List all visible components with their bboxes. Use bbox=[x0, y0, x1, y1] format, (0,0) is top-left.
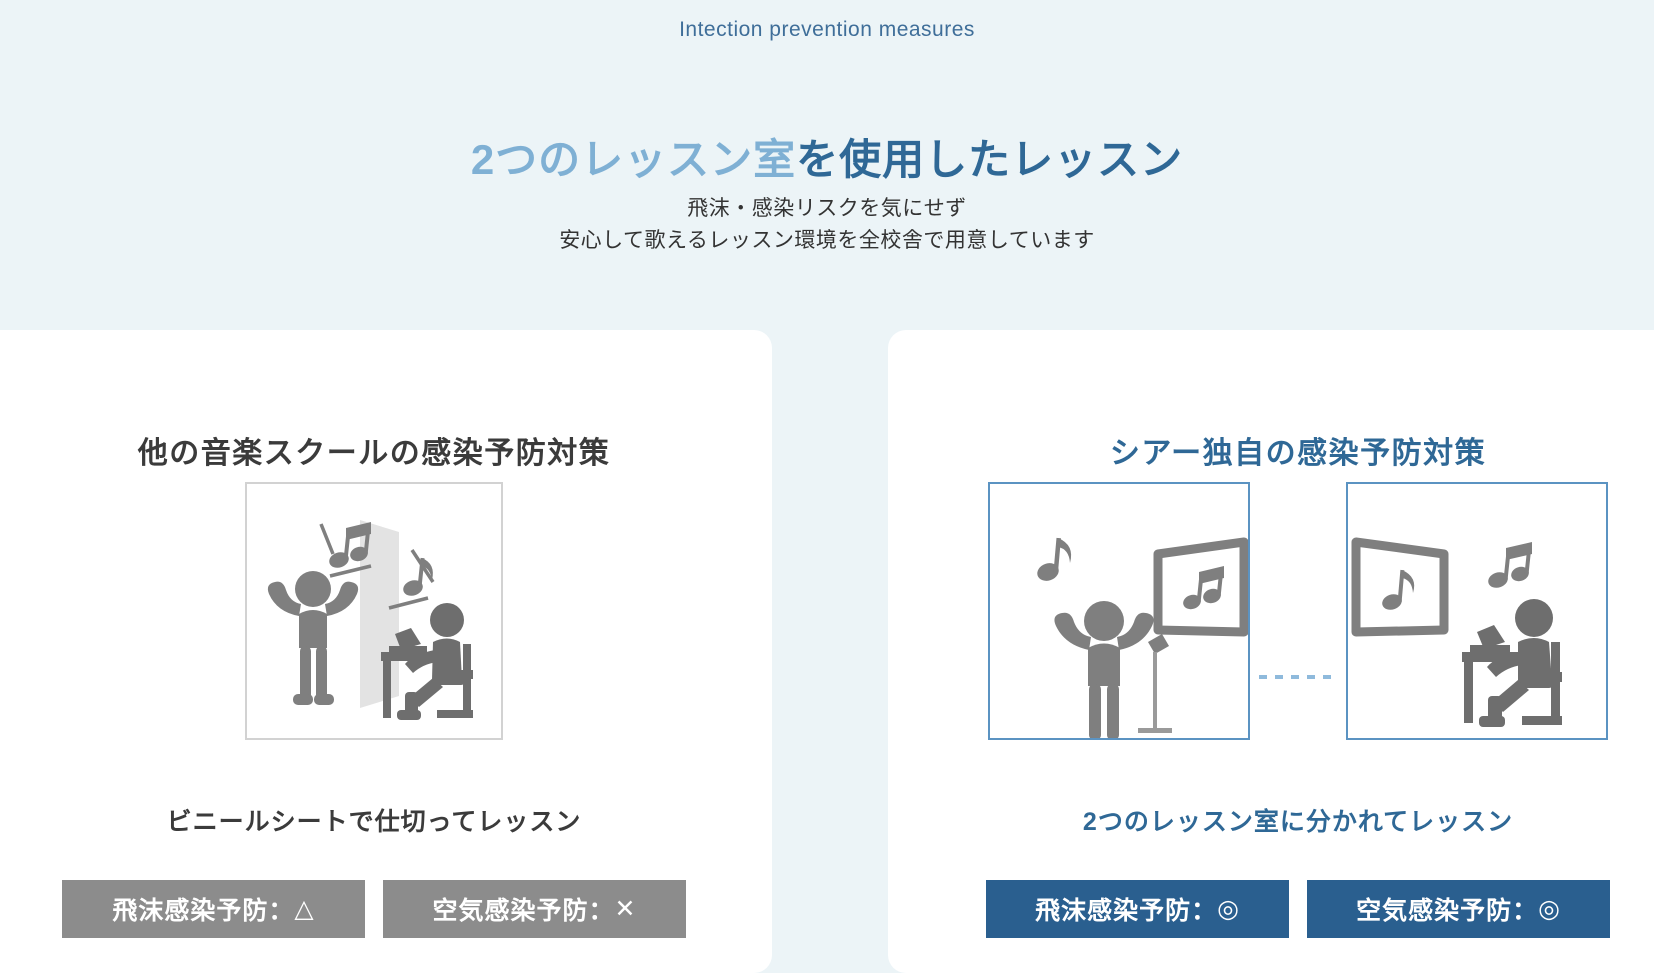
badge-droplet-prevention-blue: 飛沫感染予防：◎ bbox=[986, 880, 1289, 938]
music-note-right bbox=[401, 558, 433, 598]
badge-row-sheer-original: 飛沫感染予防：◎ 空気感染予防：◎ bbox=[888, 880, 1654, 938]
double-circle-mark: ◎ bbox=[1217, 894, 1240, 924]
card-caption-other-schools: ビニールシートで仕切ってレッスン bbox=[0, 802, 772, 838]
badge-airborne-prevention-gray: 空気感染予防：✕ bbox=[383, 880, 686, 938]
vinyl-sheet-lesson-icon bbox=[247, 484, 501, 738]
section-eyebrow: Intection prevention measures bbox=[0, 18, 1654, 42]
illustration-two-rooms bbox=[888, 482, 1654, 740]
card-title-sheer-original: シアー独自の感染予防対策 bbox=[888, 428, 1654, 472]
badge-label: 飛沫感染予防： bbox=[112, 891, 294, 927]
instructor-room-icon bbox=[1348, 484, 1606, 738]
badge-label: 空気感染予防： bbox=[433, 891, 615, 927]
microphone-stand bbox=[1138, 634, 1172, 733]
seated-instructor-figure bbox=[1462, 599, 1562, 727]
section-subtitle-line-1: 飛沫・感染リスクを気にせず bbox=[0, 192, 1654, 222]
card-other-schools: 他の音楽スクールの感染予防対策 bbox=[0, 330, 772, 973]
badge-droplet-prevention-gray: 飛沫感染予防：△ bbox=[62, 880, 365, 938]
illustration-vinyl-sheet-partition bbox=[0, 482, 772, 740]
infection-prevention-section: Intection prevention measures 2つのレッスン室を使… bbox=[0, 0, 1654, 973]
singer-room-icon bbox=[990, 484, 1248, 738]
monitor-screen bbox=[1356, 542, 1444, 632]
music-note-floating bbox=[1486, 542, 1532, 590]
card-sheer-original: シアー独自の感染予防対策 bbox=[888, 330, 1654, 973]
cross-mark: ✕ bbox=[615, 894, 637, 924]
badge-label: 空気感染予防： bbox=[1356, 891, 1538, 927]
section-subtitle-line-2: 安心して歌えるレッスン環境を全校舎で用意しています bbox=[0, 224, 1654, 254]
page-title: 2つのレッスン室を使用したレッスン bbox=[0, 126, 1654, 187]
illustration-frame-gray bbox=[245, 482, 503, 740]
page-title-main: を使用したレッスン bbox=[796, 136, 1183, 183]
singing-person-figure bbox=[1054, 601, 1153, 738]
illustration-frame-blue-room-1 bbox=[988, 482, 1250, 740]
badge-airborne-prevention-blue: 空気感染予防：◎ bbox=[1307, 880, 1610, 938]
badge-label: 飛沫感染予防： bbox=[1035, 891, 1217, 927]
badge-row-other-schools: 飛沫感染予防：△ 空気感染予防：✕ bbox=[0, 880, 772, 938]
double-circle-mark: ◎ bbox=[1538, 894, 1561, 924]
card-caption-sheer-original: 2つのレッスン室に分かれてレッスン bbox=[888, 802, 1654, 838]
standing-person-figure bbox=[268, 571, 358, 705]
monitor-screen bbox=[1158, 542, 1244, 632]
card-title-other-schools: 他の音楽スクールの感染予防対策 bbox=[0, 428, 772, 472]
page-title-accent: 2つのレッスン室 bbox=[471, 136, 796, 183]
music-note-floating bbox=[1035, 538, 1071, 584]
room-connection-dotted-line bbox=[1259, 675, 1337, 679]
triangle-mark: △ bbox=[294, 894, 314, 924]
illustration-frame-blue-room-2 bbox=[1346, 482, 1608, 740]
